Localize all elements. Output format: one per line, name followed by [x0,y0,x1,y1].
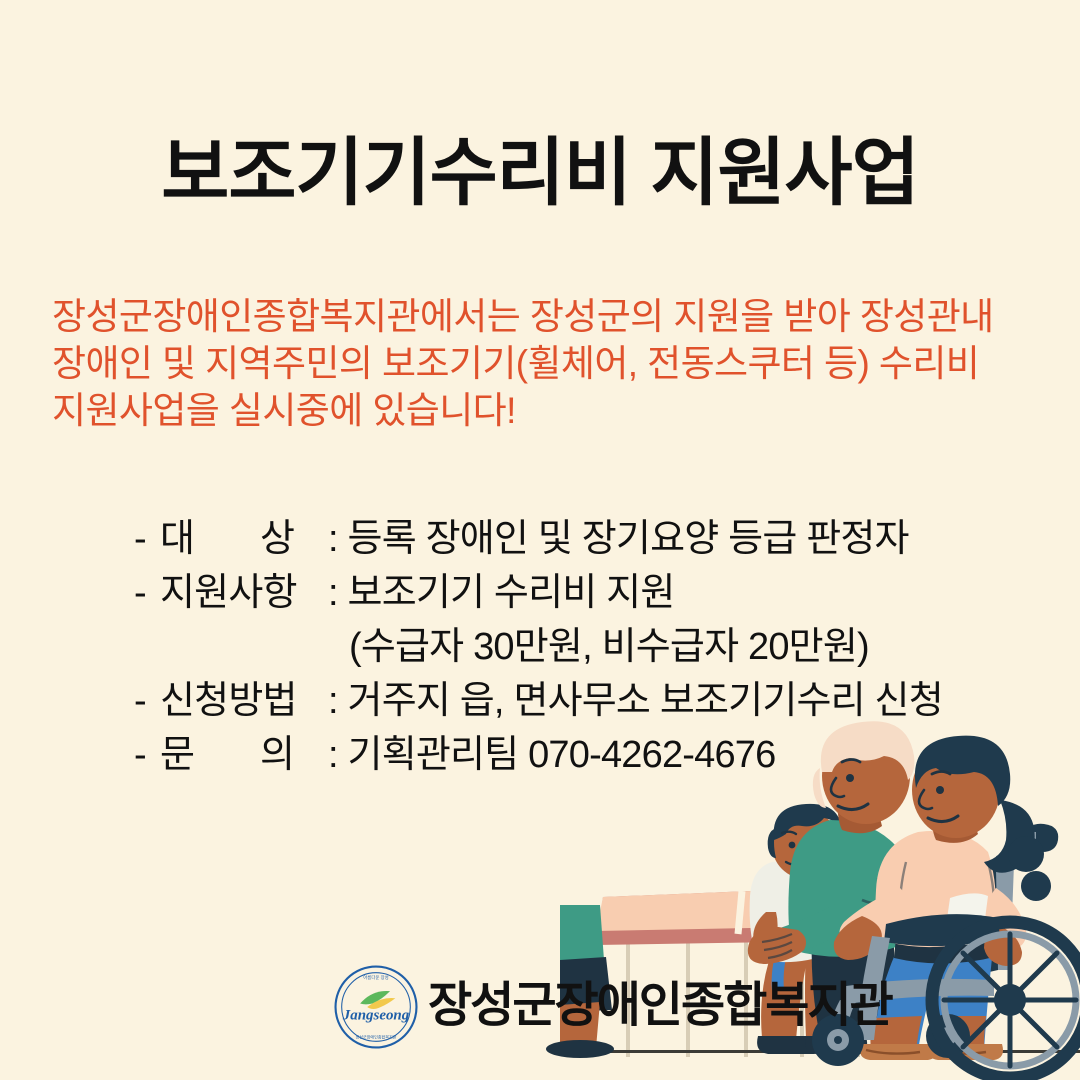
detail-dash: - [134,512,160,566]
jangseong-logo-icon: Jangseong 아름다운 장성 장성군장애인종합복지관 [332,963,420,1051]
page-title: 보조기기수리비 지원사업 [0,134,1080,212]
detail-dash: - [134,566,160,620]
wheelchair-back [928,824,1058,976]
svg-text:Jangseong: Jangseong [342,1007,410,1023]
detail-row-target: -대상: 등록 장애인 및 장기요양 등급 판정자 [134,512,1034,566]
detail-separator: : [328,518,338,560]
detail-value-contact: 기획관리팀 070-4262-4676 [348,734,776,776]
detail-separator: : [328,680,338,722]
detail-label-support: 지원사항 [160,566,328,620]
intro-line-2: 장애인 및 지역주민의 보조기기(휠체어, 전동스쿠터 등) 수리비 [52,340,1042,387]
detail-separator: : [328,734,338,776]
detail-value-howto: 거주지 읍, 면사무소 보조기기수리 신청 [348,680,943,722]
detail-row-amounts: (수급자 30만원, 비수급자 20만원) [134,620,1034,674]
detail-dash: - [134,728,160,782]
poster-canvas: 보조기기수리비 지원사업 장성군장애인종합복지관에서는 장성군의 지원을 받아 … [0,0,1080,1080]
footer-branding: Jangseong 아름다운 장성 장성군장애인종합복지관 장성군장애인종합복지… [332,963,892,1051]
detail-label-contact: 문의 [160,728,328,782]
detail-row-howto: -신청방법: 거주지 읍, 면사무소 보조기기수리 신청 [134,674,1034,728]
program-detail-list: -대상: 등록 장애인 및 장기요양 등급 판정자 -지원사항: 보조기기 수리… [134,512,1034,782]
detail-separator: : [328,572,338,614]
intro-paragraph: 장성군장애인종합복지관에서는 장성군의 지원을 받아 장성관내 장애인 및 지역… [52,293,1042,434]
detail-row-support: -지원사항: 보조기기 수리비 지원 [134,566,1034,620]
intro-line-1: 장성군장애인종합복지관에서는 장성군의 지원을 받아 장성관내 [52,293,1042,340]
organization-name: 장성군장애인종합복지관 [428,982,892,1032]
detail-value-target: 등록 장애인 및 장기요양 등급 판정자 [348,518,909,560]
detail-row-contact: -문의: 기획관리팀 070-4262-4676 [134,728,1034,782]
intro-line-3: 지원사업을 실시중에 있습니다! [52,387,1042,434]
detail-label-howto: 신청방법 [160,674,328,728]
detail-dash: - [134,674,160,728]
detail-label-target: 대상 [160,512,328,566]
detail-value-support: 보조기기 수리비 지원 [348,572,675,614]
svg-text:장성군장애인종합복지관: 장성군장애인종합복지관 [356,1034,397,1040]
svg-text:아름다운 장성: 아름다운 장성 [363,974,388,981]
